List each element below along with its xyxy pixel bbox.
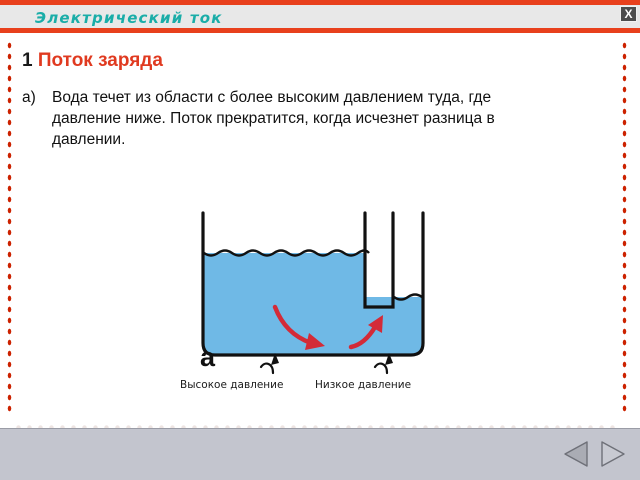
slide-content: 1 Поток заряда а) Вода течет из области … xyxy=(0,40,640,415)
connected-vessels-diagram: Высокое давление Низкое давление a xyxy=(165,195,485,410)
label-high-pressure: Высокое давление xyxy=(180,379,283,391)
window-title: Электрический ток xyxy=(35,9,223,27)
bullet-marker: а) xyxy=(22,87,52,108)
panel-letter: a xyxy=(200,342,215,373)
bullet-text: Вода течет из области с более высоким да… xyxy=(52,87,552,150)
prev-arrow-icon[interactable] xyxy=(562,440,592,468)
heading-number: 1 xyxy=(22,50,33,71)
next-arrow-icon[interactable] xyxy=(597,440,627,468)
page-title: 1 Поток заряда xyxy=(22,50,163,72)
footer-bar xyxy=(0,428,640,480)
bullet-item: а) Вода течет из области с более высоким… xyxy=(22,87,582,150)
close-icon[interactable]: X xyxy=(620,6,637,22)
label-low-pressure: Низкое давление xyxy=(315,379,411,391)
title-bar: Электрический ток X xyxy=(0,0,640,33)
heading-title: Поток заряда xyxy=(38,50,163,71)
